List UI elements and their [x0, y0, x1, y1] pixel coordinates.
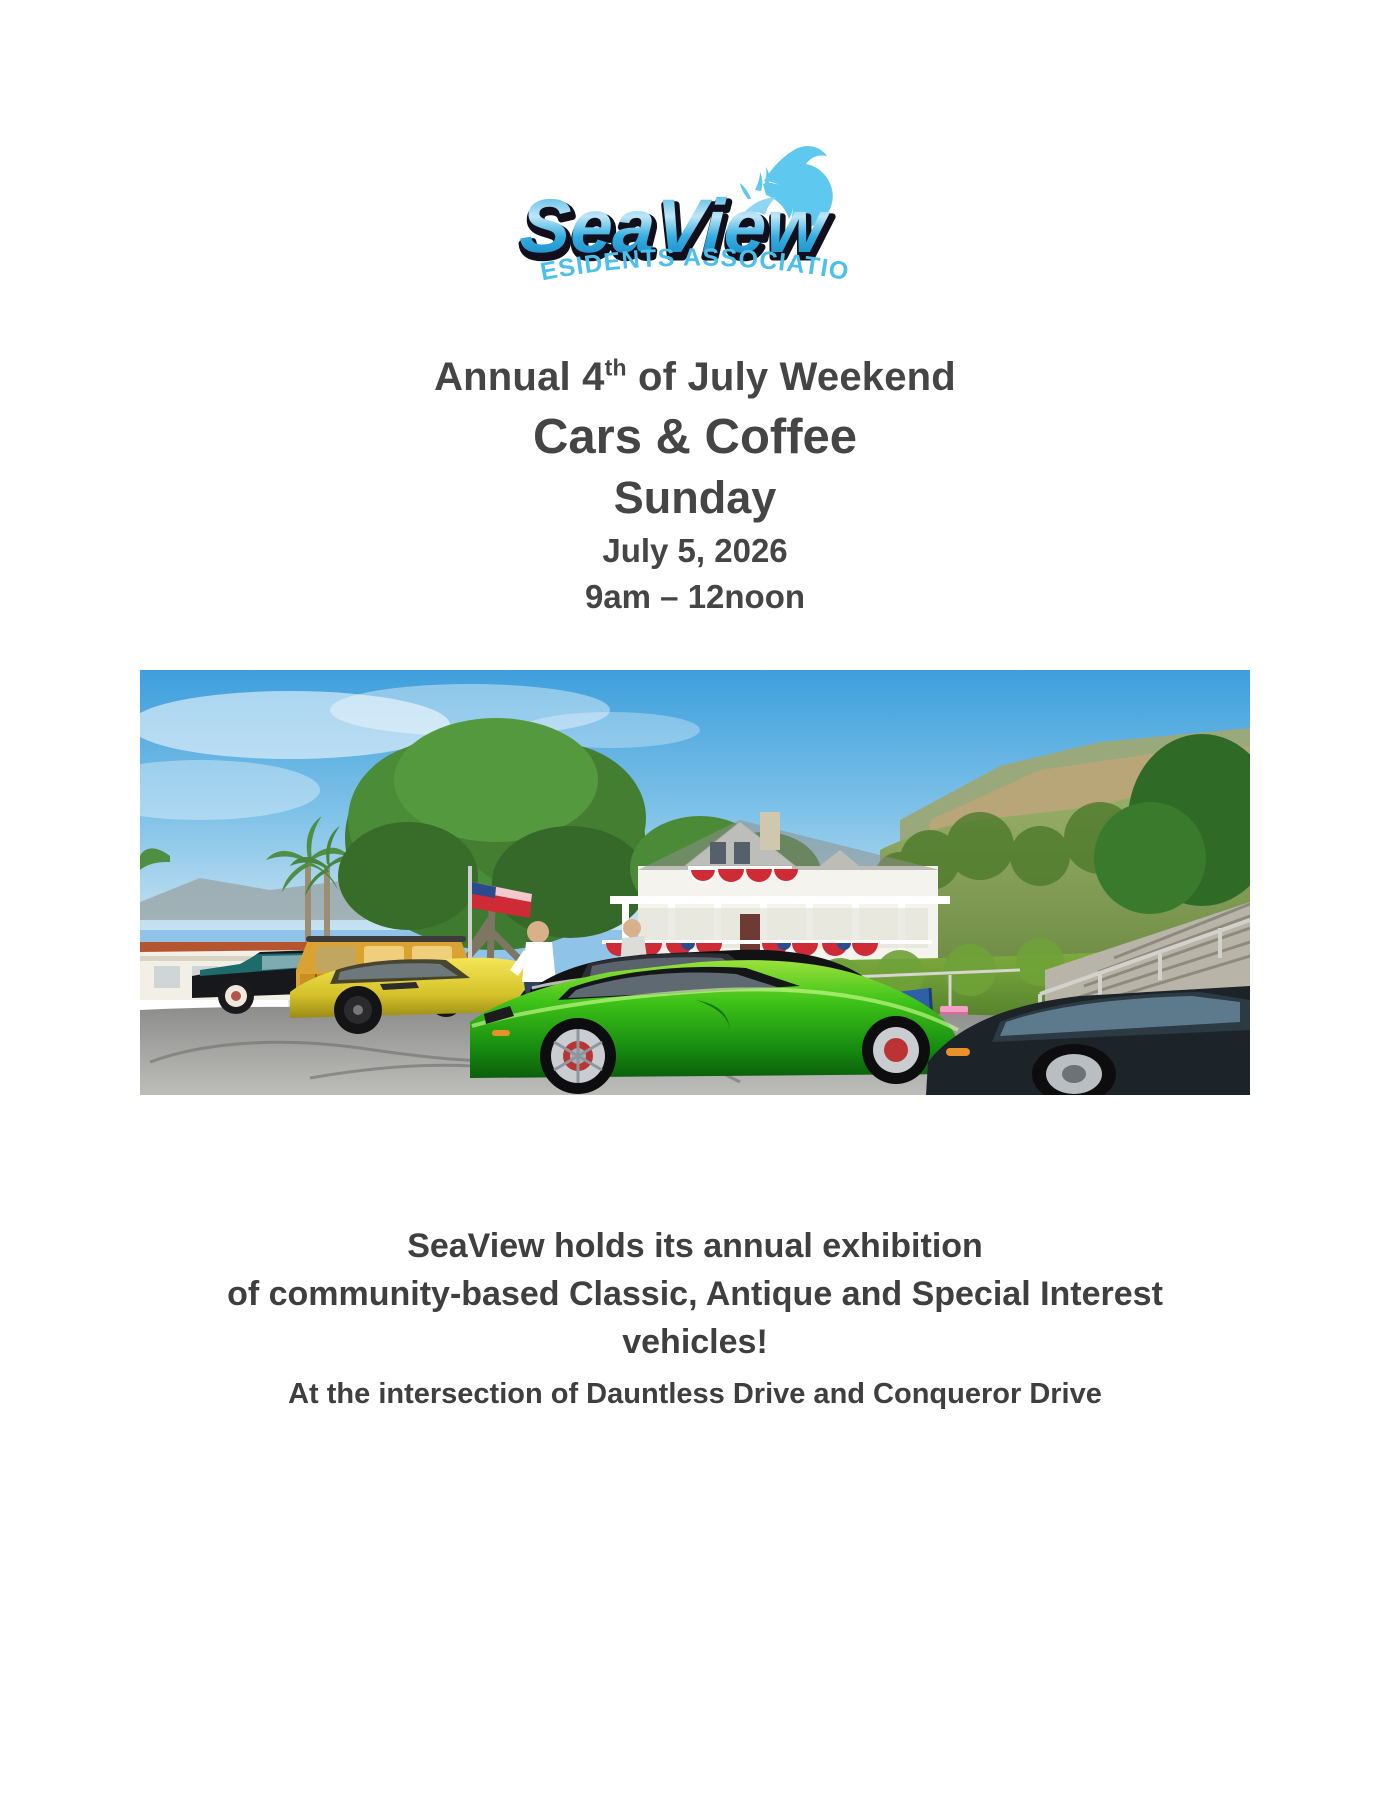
logo-container: SeaView SeaView RESIDENTS ASSOCIATION — [0, 130, 1390, 305]
footer-line-1: SeaView holds its annual exhibition — [0, 1222, 1390, 1270]
car-show-photo — [140, 670, 1250, 1095]
annual-line: Annual 4th of July Weekend — [0, 352, 1390, 402]
event-title: Cars & Coffee — [0, 406, 1390, 468]
footer-text-block: SeaView holds its annual exhibition of c… — [0, 1222, 1390, 1416]
flyer-page: SeaView SeaView RESIDENTS ASSOCIATION An… — [0, 0, 1390, 1804]
footer-line-2: of community-based Classic, Antique and … — [0, 1270, 1390, 1318]
seaview-residents-association-logo: SeaView SeaView RESIDENTS ASSOCIATION — [505, 130, 885, 305]
event-day: Sunday — [0, 468, 1390, 528]
event-time: 9am – 12noon — [0, 574, 1390, 620]
footer-line-3: vehicles! — [0, 1318, 1390, 1366]
footer-location-line: At the intersection of Dauntless Drive a… — [0, 1372, 1390, 1416]
annual-suffix: of July Weekend — [627, 355, 956, 399]
event-headline-block: Annual 4th of July Weekend Cars & Coffee… — [0, 352, 1390, 620]
event-date: July 5, 2026 — [0, 528, 1390, 574]
annual-ordinal-suffix: th — [605, 355, 627, 381]
annual-prefix: Annual 4 — [434, 355, 605, 399]
